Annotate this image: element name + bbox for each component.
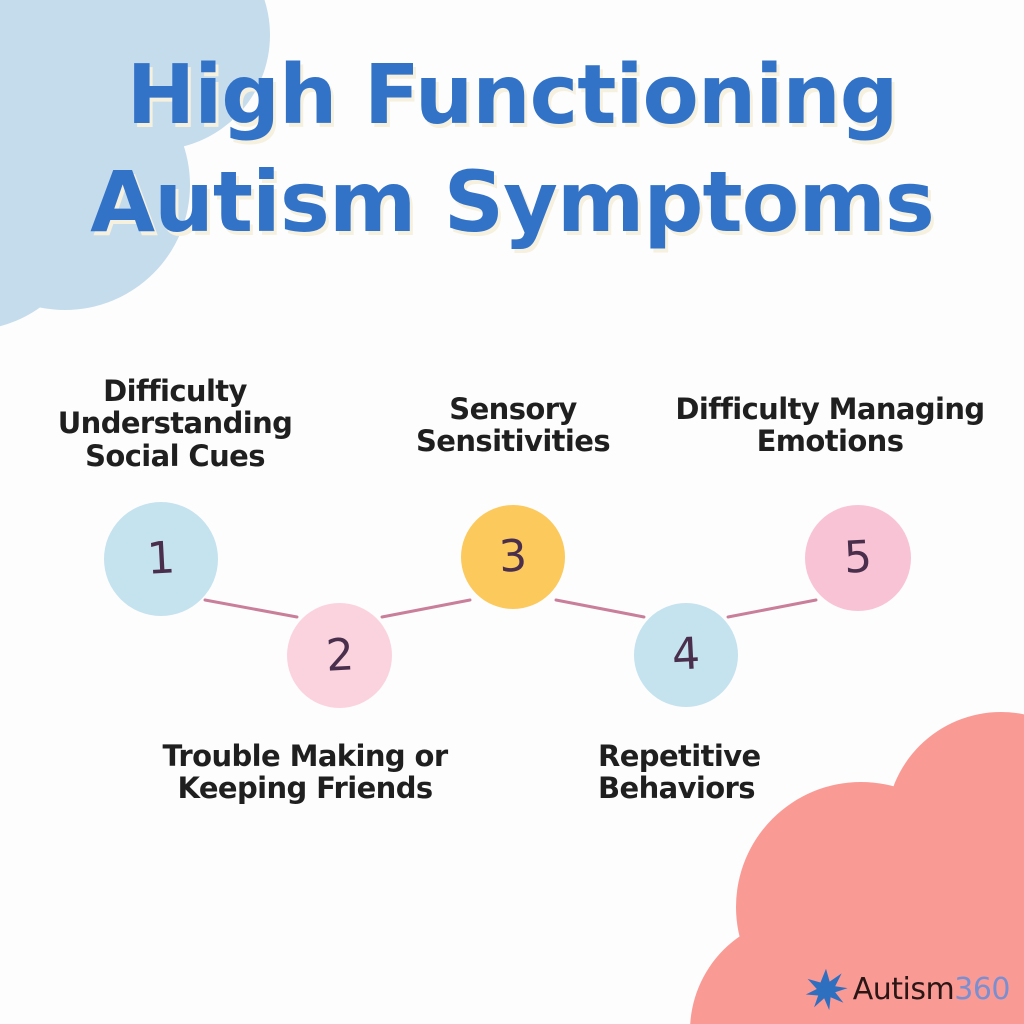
brand-logo[interactable]: Autism360 [803, 966, 1010, 1012]
page-title: High Functioning Autism Symptoms [0, 44, 1024, 256]
step-label-2-line-2: Keeping Friends [162, 772, 447, 804]
step-label-2: Trouble Making or Keeping Friends [162, 740, 447, 805]
step-number-4: 4 [671, 632, 701, 677]
step-label-2-line-1: Trouble Making or [162, 740, 447, 772]
connector-2-3 [382, 600, 470, 617]
step-label-3-line-1: Sensory [416, 393, 610, 425]
step-label-1-line-1: Difficulty [58, 375, 293, 407]
step-label-5-line-2: Emotions [675, 425, 984, 457]
step-circle-5[interactable]: 5 [805, 505, 911, 611]
title-line-2: Autism Symptoms [0, 149, 1024, 257]
connector-4-5 [728, 600, 816, 617]
step-number-2: 2 [324, 633, 354, 678]
logo-suffix-text: 360 [954, 972, 1010, 1007]
step-circle-1[interactable]: 1 [104, 502, 218, 616]
step-circle-4[interactable]: 4 [634, 603, 738, 707]
step-label-1: Difficulty Understanding Social Cues [58, 375, 293, 472]
logo-name-text: Autism [853, 972, 955, 1007]
connector-3-4 [556, 600, 644, 617]
step-number-5: 5 [843, 535, 873, 580]
step-label-4: Repetitive Behaviors [598, 740, 761, 805]
step-number-1: 1 [146, 536, 176, 581]
step-label-1-line-3: Social Cues [58, 440, 293, 472]
step-circle-3[interactable]: 3 [461, 505, 565, 609]
infographic-poster: High Functioning Autism Symptoms Difficu… [0, 0, 1024, 1024]
title-line-1: High Functioning [0, 44, 1024, 149]
star-burst-icon [803, 966, 849, 1012]
step-label-1-line-2: Understanding [58, 407, 293, 439]
step-circle-2[interactable]: 2 [287, 603, 392, 708]
step-label-4-line-2: Behaviors [598, 772, 761, 804]
step-number-3: 3 [498, 534, 528, 579]
step-label-4-line-1: Repetitive [598, 740, 761, 772]
step-label-5: Difficulty Managing Emotions [675, 393, 984, 458]
step-label-5-line-1: Difficulty Managing [675, 393, 984, 425]
step-label-3-line-2: Sensitivities [416, 425, 610, 457]
connector-1-2 [205, 600, 297, 617]
step-label-3: Sensory Sensitivities [416, 393, 610, 458]
